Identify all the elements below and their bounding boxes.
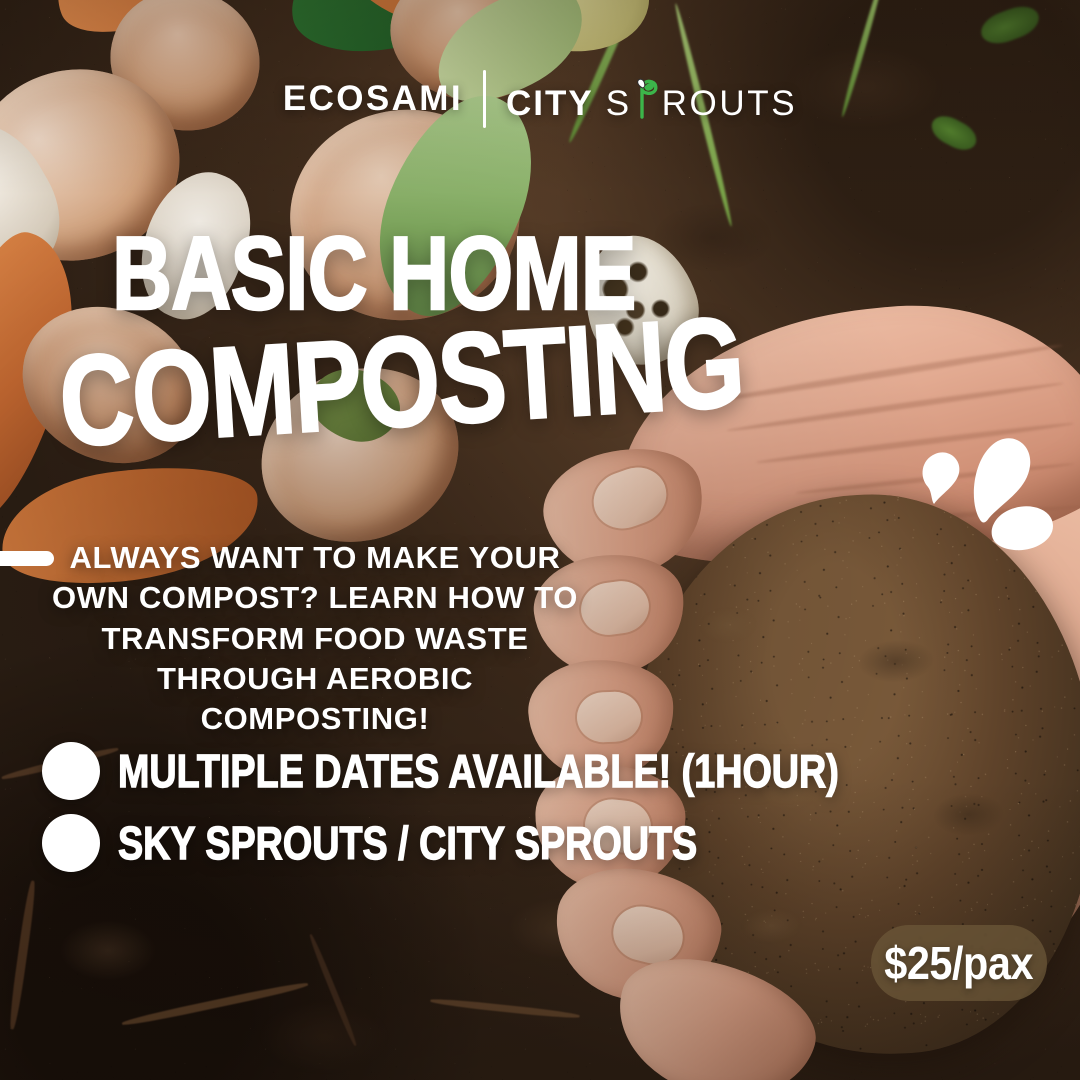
subtitle-text: ALWAYS WANT TO MAKE YOUR OWN COMPOST? LE… — [40, 538, 590, 739]
sprouts-suffix: ROUTS — [662, 84, 798, 124]
info-text-dates: MULTIPLE DATES AVAILABLE! (1HOUR) — [118, 744, 839, 798]
poster-canvas: ECOSAMI CITY S ROUTS — [0, 0, 1080, 1080]
sprouts-prefix: S — [606, 84, 632, 124]
brand-name-ecosami: ECOSAMI — [283, 79, 463, 119]
info-list: MULTIPLE DATES AVAILABLE! (1HOUR) — [42, 742, 997, 872]
sprout-icon — [632, 79, 662, 119]
info-row-dates: MULTIPLE DATES AVAILABLE! (1HOUR) — [42, 742, 997, 800]
headline-line-2: COMPOSTING — [57, 308, 746, 458]
location-pin-icon — [42, 814, 100, 872]
splash-droplets-icon — [915, 432, 1060, 552]
price-badge-text: $25/pax — [885, 936, 1034, 990]
info-text-location: SKY SPROUTS / CITY SPROUTS — [118, 816, 697, 870]
brand-word-sprouts: S ROUTS — [606, 75, 797, 124]
brand-logo: ECOSAMI CITY S ROUTS — [0, 70, 1080, 128]
brand-name-city-sprouts: CITY S ROUTS — [506, 75, 797, 124]
poster-content: ECOSAMI CITY S ROUTS — [0, 0, 1080, 1080]
price-badge: $25/pax — [871, 925, 1047, 1001]
calendar-icon — [42, 742, 100, 800]
info-row-location: SKY SPROUTS / CITY SPROUTS — [42, 814, 997, 872]
brand-word-city: CITY — [506, 84, 594, 124]
logo-divider — [483, 70, 486, 128]
